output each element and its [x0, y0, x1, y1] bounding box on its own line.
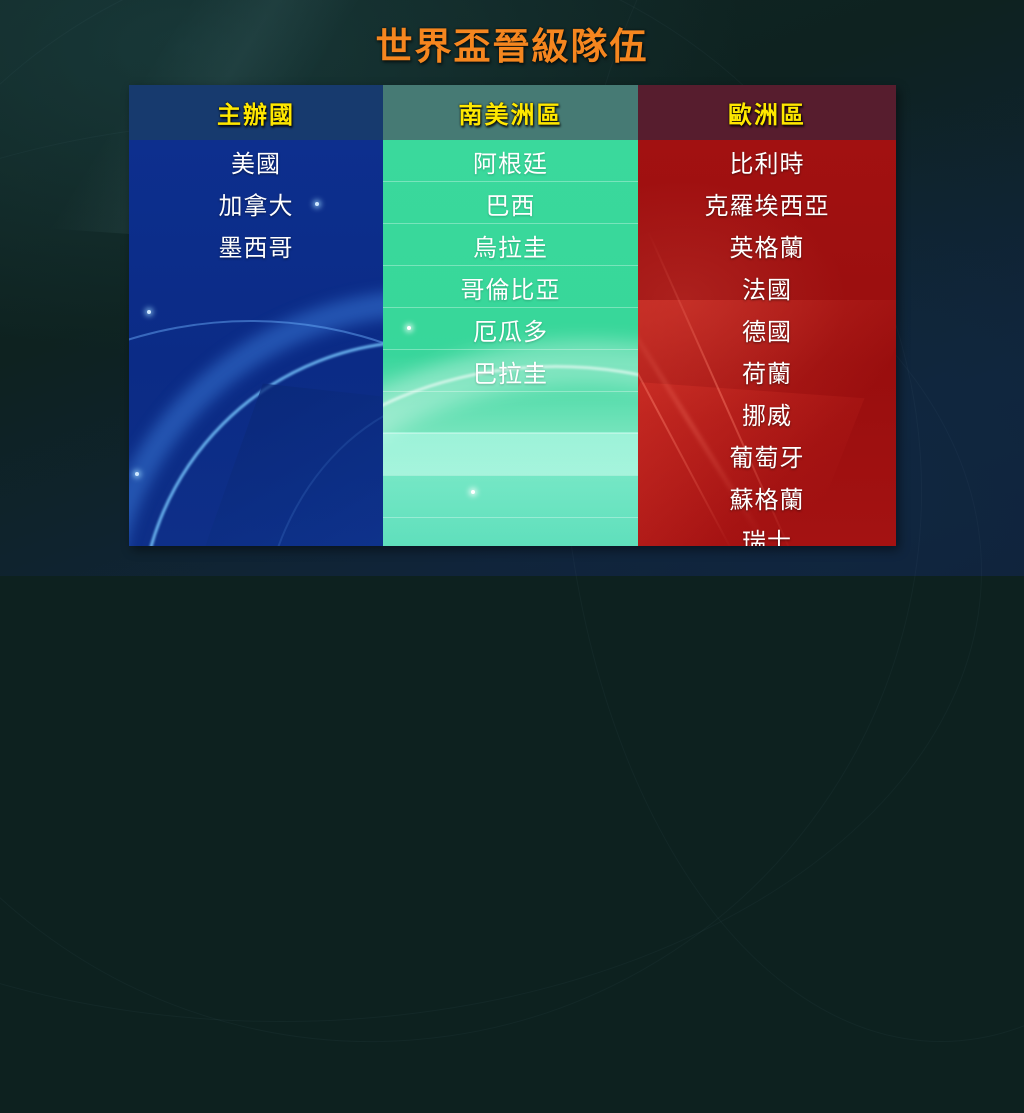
table-row: 墨西哥: [129, 224, 383, 266]
page-title: 世界盃晉級隊伍: [0, 16, 1024, 70]
table-row: 厄瓜多: [383, 308, 638, 350]
column-header-south-america: 南美洲區: [383, 85, 638, 140]
table-row: 瑞士: [638, 518, 896, 546]
table-row: 阿根廷: [383, 140, 638, 182]
table-row: 法國: [638, 266, 896, 308]
table-row: 英格蘭: [638, 224, 896, 266]
table-row-empty: [383, 518, 638, 546]
table-row: 美國: [129, 140, 383, 182]
table-row: 哥倫比亞: [383, 266, 638, 308]
table-row: 加拿大: [129, 182, 383, 224]
table-column-europe: 歐洲區 比利時 克羅埃西亞 英格蘭 法國 德國 荷蘭 挪威 葡萄牙 蘇格蘭 瑞士: [638, 85, 896, 546]
column-body-europe: 比利時 克羅埃西亞 英格蘭 法國 德國 荷蘭 挪威 葡萄牙 蘇格蘭 瑞士: [638, 140, 896, 546]
table-row: 葡萄牙: [638, 434, 896, 476]
team-list-south-america: 阿根廷 巴西 烏拉圭 哥倫比亞 厄瓜多 巴拉圭: [383, 140, 638, 546]
table-column-south-america: 南美洲區 阿根廷 巴西 烏拉圭 哥倫比亞 厄瓜多 巴拉圭: [383, 85, 638, 546]
table-row: 比利時: [638, 140, 896, 182]
table-row: 蘇格蘭: [638, 476, 896, 518]
qualified-teams-table: 主辦國 美國 加拿大 墨西哥 南美洲區: [129, 85, 896, 546]
column-header-europe: 歐洲區: [638, 85, 896, 140]
table-row: 克羅埃西亞: [638, 182, 896, 224]
table-row: 巴拉圭: [383, 350, 638, 392]
team-list-hosts: 美國 加拿大 墨西哥: [129, 140, 383, 266]
table-row: 挪威: [638, 392, 896, 434]
team-list-europe: 比利時 克羅埃西亞 英格蘭 法國 德國 荷蘭 挪威 葡萄牙 蘇格蘭 瑞士: [638, 140, 896, 546]
table-row-empty: [383, 476, 638, 518]
table-row: 荷蘭: [638, 350, 896, 392]
table-row-empty: [383, 434, 638, 476]
column-body-hosts: 美國 加拿大 墨西哥: [129, 140, 383, 546]
table-row-empty: [383, 392, 638, 434]
table-column-hosts: 主辦國 美國 加拿大 墨西哥: [129, 85, 383, 546]
table-row: 巴西: [383, 182, 638, 224]
column-body-south-america: 阿根廷 巴西 烏拉圭 哥倫比亞 厄瓜多 巴拉圭: [383, 140, 638, 546]
table-row: 烏拉圭: [383, 224, 638, 266]
column-header-hosts: 主辦國: [129, 85, 383, 140]
table-row: 德國: [638, 308, 896, 350]
